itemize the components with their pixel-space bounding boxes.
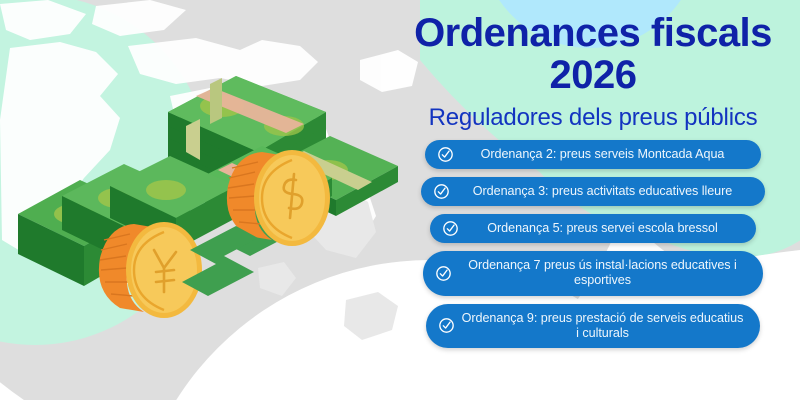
page-subtitle: Reguladores dels preus públics [429,104,758,132]
title-line-1: Ordenances fiscals [414,11,772,55]
list-item-ordinance-2[interactable]: Ordenança 2: preus serveis Montcada Aqua [425,140,761,169]
list-item-label: Ordenança 7 preus ús instal·lacions educ… [458,258,747,289]
title-line-2: 2026 [386,54,800,96]
check-circle-icon [438,317,455,334]
gold-coin-yen [99,222,202,318]
list-item-label: Ordenança 5: preus servei escola bressol [465,221,740,236]
check-circle-icon [435,265,452,282]
illustration-money [0,0,420,400]
list-item-label: Ordenança 3: preus activitats educatives… [456,184,749,199]
poster-canvas: Ordenances fiscals 2026 Reguladores dels… [0,0,800,400]
list-item-ordinance-9[interactable]: Ordenança 9: preus prestació de serveis … [426,304,760,349]
list-item-ordinance-5[interactable]: Ordenança 5: preus servei escola bressol [430,214,756,243]
check-circle-icon [437,146,454,163]
list-item-ordinance-7[interactable]: Ordenança 7 preus ús instal·lacions educ… [423,251,763,296]
content-column: Ordenances fiscals 2026 Reguladores dels… [386,0,800,400]
ordinance-list: Ordenança 2: preus serveis Montcada Aqua… [386,140,800,356]
check-circle-icon [442,220,459,237]
list-item-label: Ordenança 2: preus serveis Montcada Aqua [460,147,745,162]
list-item-ordinance-3[interactable]: Ordenança 3: preus activitats educatives… [421,177,765,206]
page-title: Ordenances fiscals 2026 [386,12,800,97]
check-circle-icon [433,183,450,200]
list-item-label: Ordenança 9: preus prestació de serveis … [461,311,744,342]
